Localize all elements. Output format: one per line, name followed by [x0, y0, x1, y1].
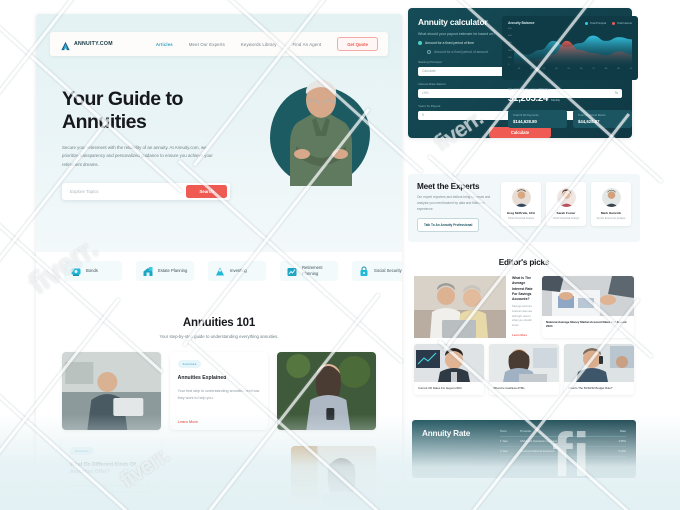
- photo-woman-at-office-desk: [489, 344, 559, 382]
- expert-card-list: Greg McBride, CFA Chief Financial Analys…: [501, 182, 631, 234]
- nav-links: Articles Meet Our Experts Keywords Libra…: [156, 37, 378, 50]
- y-tick: 0: [508, 64, 512, 66]
- editors-pick-card-current-cd-rates[interactable]: Current CD Rates For August 2024: [414, 344, 484, 395]
- editors-pick-feature-body: What Is The Average Interest Rate For Sa…: [512, 276, 536, 338]
- result-box-value: $144,628.80: [513, 119, 562, 124]
- expert-card-mark-hamrick[interactable]: Mark Hamrick Senior Economic Analyst: [591, 182, 631, 226]
- result-box-value: $44,628.87: [578, 119, 627, 124]
- estate-icon: [142, 265, 154, 277]
- chart-area-paths: [514, 28, 632, 66]
- y-tick: 300: [508, 42, 512, 44]
- result-unit: Monthly: [551, 98, 560, 102]
- editors-pick-card-cashless-atms[interactable]: What Are Cashless ATMs: [489, 344, 559, 395]
- category-chip-estate-planning[interactable]: Estate Planning: [136, 261, 194, 281]
- chart-legend: Total Principal Total Interest: [585, 22, 632, 25]
- hero-person-photo: [282, 74, 360, 186]
- chart-title: Annuity Balance: [508, 21, 535, 25]
- y-tick: 100: [508, 57, 512, 59]
- category-label-investing: Investing: [230, 268, 260, 274]
- calculator-result: Est 10 Years You Can Withdraw $1,205.24M…: [502, 84, 638, 134]
- expert-role: Senior Economic Analyst: [594, 217, 628, 220]
- legend-label: Total Principal: [590, 22, 606, 25]
- search-input[interactable]: Explore Topics: [70, 189, 98, 194]
- x-tick: 06: [580, 68, 582, 70]
- card-image: [489, 344, 559, 382]
- hero-search-bar[interactable]: Explore Topics Search: [62, 183, 230, 200]
- legend-label: Total Interest: [617, 22, 632, 25]
- hero-title: Your Guide to Annuities: [62, 88, 248, 133]
- card-tag: Annuities: [178, 360, 202, 368]
- y-tick: 400: [508, 35, 512, 37]
- chart-x-axis: 01 02 03 04 05 06 07 08 09 10: [518, 68, 632, 70]
- expert-role: Chief Financial Analyst: [549, 217, 583, 220]
- editors-picks-top-row: What Is The Average Interest Rate For Sa…: [414, 276, 634, 338]
- result-box-total-payments: Total Of All Payments $144,628.80: [508, 110, 567, 128]
- logo-text: ANNUITY.COM: [74, 41, 113, 47]
- x-tick: 10: [630, 68, 632, 70]
- meet-the-experts-section: Meet the Experts Our expert reporters an…: [408, 174, 640, 242]
- result-amount: $1,205.24: [508, 93, 548, 104]
- chart-header: Annuity Balance Total Principal Total In…: [508, 21, 632, 25]
- legend-item-total-principal: Total Principal: [585, 22, 606, 25]
- get-quote-button[interactable]: Get Quote: [337, 37, 378, 50]
- card-heading: Annuities Explained: [178, 375, 261, 382]
- nav-item-find-an-agent[interactable]: Find An Agent: [293, 42, 322, 47]
- category-label-estate-planning: Estate Planning: [158, 268, 188, 274]
- y-tick: 200: [508, 50, 512, 52]
- avatar: [512, 188, 531, 207]
- retirement-icon: [286, 265, 298, 277]
- input-value: 5: [422, 113, 424, 117]
- result-box-total-interest: Total Of Interest Return $44,628.87: [573, 110, 632, 128]
- x-tick: 04: [555, 68, 557, 70]
- expert-name: Sarah Foster: [549, 211, 583, 215]
- hero-portrait: [266, 74, 374, 186]
- desktop-mockup-right: Annuity calculator What should your payo…: [408, 8, 640, 478]
- category-chip-row: Bonds Estate Planning Investing Retireme…: [64, 261, 402, 281]
- editors-pick-feature-image[interactable]: [414, 276, 506, 338]
- legend-swatch-icon: [585, 22, 588, 25]
- result-label: Est 10 Years You Can Withdraw: [508, 87, 632, 91]
- site-logo[interactable]: ANNUITY.COM: [60, 39, 113, 50]
- result-summary-boxes: Total Of All Payments $144,628.80 Total …: [508, 110, 632, 128]
- calculator-option-2-label: Amount for a fixed period of amount: [434, 50, 488, 54]
- learn-more-link[interactable]: Learn More: [512, 333, 536, 337]
- search-button[interactable]: Search: [186, 185, 227, 198]
- x-tick: 02: [530, 68, 532, 70]
- expert-card-greg-mcbride[interactable]: Greg McBride, CFA Chief Financial Analys…: [501, 182, 541, 226]
- site-navbar: ANNUITY.COM Articles Meet Our Experts Ke…: [50, 32, 388, 56]
- experts-paragraph: Our expert reporters and editors bring t…: [417, 195, 495, 212]
- section-subtitle-annuities-101: Your step-by-step guide to understanding…: [36, 334, 402, 339]
- photo-man-at-trading-desk: [414, 344, 484, 382]
- radio-selected-icon[interactable]: [418, 41, 422, 45]
- social-security-icon: [358, 265, 370, 277]
- expert-role: Chief Financial Analyst: [504, 217, 538, 220]
- bond-icon: [70, 265, 82, 277]
- x-tick: 08: [605, 68, 607, 70]
- category-label-bonds: Bonds: [86, 268, 116, 274]
- legend-item-total-interest: Total Interest: [612, 22, 632, 25]
- calculator-option-1-label: Amount for a fixed period of time: [425, 41, 474, 45]
- card-caption: Current CD Rates For August 2024: [414, 382, 484, 395]
- nav-item-articles[interactable]: Articles: [156, 42, 173, 47]
- x-tick: 03: [543, 68, 545, 70]
- page-bottom-fade: [0, 414, 680, 510]
- expert-name: Mark Hamrick: [594, 211, 628, 215]
- x-tick: 09: [617, 68, 619, 70]
- feature-body: Savings account interest rates are still…: [512, 305, 536, 329]
- talk-to-professional-button[interactable]: Talk To An Annuity Professional: [417, 218, 479, 232]
- category-chip-bonds[interactable]: Bonds: [64, 261, 122, 281]
- editors-pick-card-budget-rule[interactable]: What Is The 50/30/20 Budget Rule?: [564, 344, 634, 395]
- side-card-image: [542, 276, 634, 316]
- experts-intro: Meet the Experts Our expert reporters an…: [417, 182, 495, 234]
- editors-pick-side-card[interactable]: National Average Money Market Account Ra…: [542, 276, 634, 338]
- hero-title-line-2: Annuities: [62, 111, 248, 134]
- photo-couple-with-laptop: [414, 276, 506, 338]
- nav-item-meet-our-experts[interactable]: Meet Our Experts: [189, 42, 225, 47]
- avatar: [602, 188, 621, 207]
- chart-y-axis: 500 400 300 200 100 0: [508, 28, 512, 66]
- input-value: 10%: [422, 91, 429, 95]
- nav-item-keywords-library[interactable]: Keywords Library: [241, 42, 277, 47]
- card-image: [414, 344, 484, 382]
- experts-title: Meet the Experts: [417, 182, 495, 191]
- x-tick: 07: [592, 68, 594, 70]
- input-value: Calculate: [422, 69, 436, 73]
- result-box-label: Total Of All Payments: [513, 114, 562, 117]
- result-value: $1,205.24Monthly: [508, 93, 632, 104]
- chart-series-canvas: [514, 28, 632, 66]
- avatar: [557, 188, 576, 207]
- category-chip-investing[interactable]: Investing: [208, 261, 266, 281]
- category-chip-social-security[interactable]: Social Security: [352, 261, 402, 281]
- radio-unselected-icon[interactable]: [427, 50, 431, 54]
- chart-plot-area: 500 400 300 200 100 0: [508, 28, 632, 66]
- card-caption: What Are Cashless ATMs: [489, 382, 559, 395]
- annuity-balance-chart: Annuity Balance Total Principal Total In…: [502, 16, 638, 80]
- photo-team-reviewing-charts: [542, 276, 634, 316]
- side-card-caption: National Average Money Market Account Ra…: [542, 316, 634, 334]
- y-tick: 500: [508, 28, 512, 30]
- category-label-retirement-planning: Retirement Planning: [302, 265, 332, 276]
- feature-heading: What Is The Average Interest Rate For Sa…: [512, 276, 536, 302]
- photo-man-on-phone-in-office: [564, 344, 634, 382]
- hero-content: Your Guide to Annuities Secure your reti…: [62, 88, 248, 200]
- logo-mark-icon: [60, 39, 71, 50]
- card-body: Your first step to understanding annuiti…: [178, 388, 261, 401]
- category-label-social-security: Social Security: [374, 268, 402, 274]
- card-image: [564, 344, 634, 382]
- legend-swatch-icon: [612, 22, 615, 25]
- result-box-label: Total Of Interest Return: [578, 114, 627, 117]
- screenshot-canvas: ANNUITY.COM Articles Meet Our Experts Ke…: [0, 0, 680, 510]
- editors-picks-title: Editor's picks: [408, 258, 640, 267]
- x-tick: 05: [568, 68, 570, 70]
- category-chip-retirement-planning[interactable]: Retirement Planning: [280, 261, 338, 281]
- card-caption: What Is The 50/30/20 Budget Rule?: [564, 382, 634, 395]
- hero-title-line-1: Your Guide to: [62, 88, 248, 111]
- editors-picks-bottom-row: Current CD Rates For August 2024 What Ar…: [414, 344, 634, 395]
- expert-name: Greg McBride, CFA: [504, 211, 538, 215]
- hero-paragraph: Secure your retirement with the reliabil…: [62, 144, 220, 168]
- investing-icon: [214, 265, 226, 277]
- section-title-annuities-101: Annuities 101: [36, 317, 402, 329]
- x-tick: 01: [518, 68, 520, 70]
- expert-card-sarah-foster[interactable]: Sarah Foster Chief Financial Analyst: [546, 182, 586, 226]
